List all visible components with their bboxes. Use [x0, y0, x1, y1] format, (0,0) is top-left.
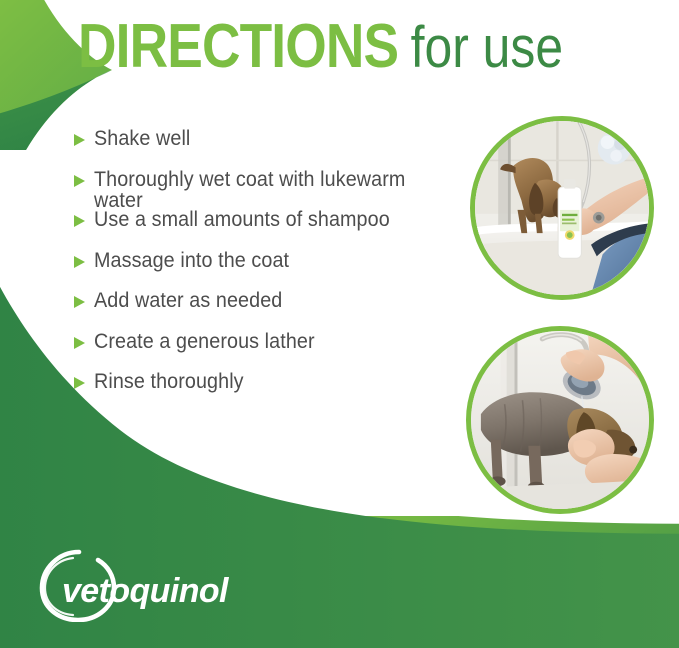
photo-dog-in-bathtub-with-shampoo-bottle: [470, 116, 654, 300]
vetoquinol-wordmark: vetoquinol: [62, 572, 230, 610]
list-item: Shake well: [74, 128, 462, 169]
triangle-bullet-icon: [74, 377, 85, 389]
triangle-bullet-icon: [74, 134, 85, 146]
list-item: Use a small amounts of shampoo: [74, 209, 462, 250]
page-title: DIRECTIONS for use: [78, 16, 638, 92]
list-item-label: Rinse thoroughly: [94, 371, 244, 392]
triangle-bullet-icon: [74, 337, 85, 349]
vetoquinol-logo: vetoquinol: [32, 546, 262, 622]
triangle-bullet-icon: [74, 215, 85, 227]
photo-dog-being-rinsed-with-showerhead: [466, 326, 654, 514]
list-item: Thoroughly wet coat with lukewarm water: [74, 169, 462, 210]
triangle-bullet-icon: [74, 256, 85, 268]
triangle-bullet-icon: [74, 175, 85, 187]
directions-for-use-poster: DIRECTIONS for use Shake well Thoroughly…: [0, 0, 679, 648]
list-item: Create a generous lather: [74, 331, 462, 372]
list-item-label: Shake well: [94, 128, 190, 149]
list-item: Add water as needed: [74, 290, 462, 331]
page-title-main: DIRECTIONS: [78, 16, 398, 78]
list-item-label: Add water as needed: [94, 290, 282, 311]
triangle-bullet-icon: [74, 296, 85, 308]
list-item: Massage into the coat: [74, 250, 462, 291]
list-item-label: Thoroughly wet coat with lukewarm water: [94, 169, 440, 211]
page-title-sub: for use: [402, 19, 563, 77]
list-item-label: Use a small amounts of shampoo: [94, 209, 390, 230]
list-item-label: Create a generous lather: [94, 331, 315, 352]
list-item-label: Massage into the coat: [94, 250, 289, 271]
directions-list: Shake well Thoroughly wet coat with luke…: [74, 128, 462, 412]
list-item: Rinse thoroughly: [74, 371, 462, 412]
